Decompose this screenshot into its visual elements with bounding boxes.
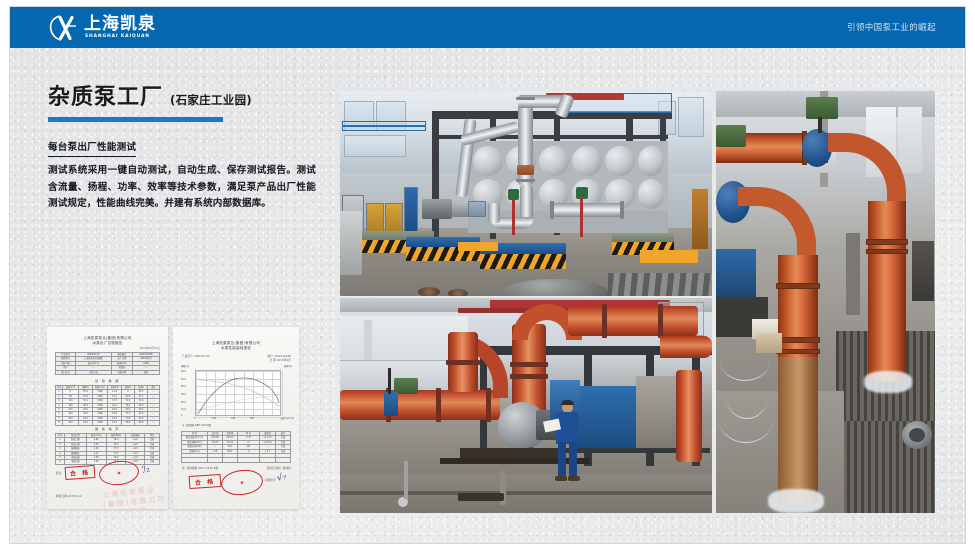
doc2-y-tick-6: 0 [181,414,182,417]
logo-text-chinese: 上海凯泉 [84,16,156,33]
doc2-y-tick-0: 60.0 [181,370,186,373]
doc2-title: 水泵性能曲线报告 [173,346,299,351]
doc2-y-tick-5: 10.0 [181,408,186,411]
doc2-y-tick-1: 50.0 [181,378,186,381]
doc2-date-line: 日 期 2018年6月 [270,359,291,363]
doc2-performance-chart [195,370,281,416]
doc2-x-tick-0: 0 [194,417,195,420]
title-underline-rule [48,117,223,122]
doc1-qualified-stamp: 合 格 [65,465,96,480]
doc2-x-label: 流量 Q(m³/h) [280,417,294,420]
doc1-meta-table: 产品型号NSP250-50报告编号QZ0316486 制造单位上海凯泉泵业(集团… [55,352,160,375]
doc2-note-line: 注: 试验依据 GB/T 3216 B级 [182,424,211,427]
page-title-block: 杂质泵工厂 (石家庄工业园) [48,85,318,122]
photo-large-pump-test-loop [340,298,712,513]
logo-text-english: SHANGHAI KAIQUAN [85,34,156,40]
doc2-y-tick-2: 40.0 [181,385,186,388]
doc2-y-left-label: 扬程(m) [181,365,189,368]
description-block: 每台泵出厂性能测试 测试系统采用一键自动测试，自动生成、保存测试报告。测试含流量… [48,135,316,213]
doc2-x-tick-6: 300 [250,417,254,420]
right-pipe-riser [868,201,906,381]
section-heading: 每台泵出厂性能测试 [48,140,136,157]
doc2-qualified-stamp: 合 格 [189,474,222,489]
doc2-tester-line: 试验员/审核: 检验科 [267,467,291,471]
photo-pump-test-bench-hall [340,91,712,296]
doc2-model-line: 产品型号: NSP250-50 [182,355,210,359]
splash-left [768,489,824,513]
photo-bottom-scene [340,298,712,513]
page-subtitle: (石家庄工业园) [170,91,252,109]
doc2-y-tick-4: 20.0 [181,401,186,404]
doc1-section-b-label: 振 动 噪 声 [47,427,168,432]
doc1-table-b-body: 1泵进口侧1.8278.4≤4.5合格 2泵出口侧2.0579.1≤4.5合格 … [55,437,160,464]
doc1-date-line: 2018年6月12日 [140,347,160,351]
document-thumbnail-test-report[interactable]: 上海凯泉泵业(集团)有限公司 水泵出厂试验报告 2018年6月12日 产品型号N… [47,327,168,509]
doc1-signature: ℐ₂ [141,464,151,475]
photo-right-scene [716,91,935,513]
kaiquan-logo-mark [48,14,79,42]
doc1-footer-note: 检验日期 2018.6.12 [56,495,82,499]
photo-top-scene [340,91,712,296]
section-body-text: 测试系统采用一键自动测试，自动生成、保存测试报告。测试含流量、扬程、功率、效率等… [48,163,316,213]
splash-right [864,371,912,393]
doc1-table-a-body: 1055.2148011.8022.5— 26054.6148014.262.8… [55,389,160,425]
doc2-signature-label: 审核签字 [265,479,276,483]
slide-canvas: 上海凯泉 SHANGHAI KAIQUAN 引领中国泵工业的崛起 杂质泵工厂 (… [10,7,965,543]
page-title: 杂质泵工厂 [48,85,163,111]
doc2-x-tick-2: 100 [212,417,216,420]
doc2-summary-body: 额定流量Q(m³/h)240.00243.15m³/h+1.31%合格 额定扬程… [181,435,291,462]
doc2-note-standard: 注: 试验依据 GB/T 3216 B级 [182,467,218,471]
doc2-y-right-label: 效率(%) [284,365,292,368]
doc2-signature: √₇ [276,472,287,484]
header-tagline: 引领中国泵工业的崛起 [847,21,936,33]
photo-orange-elbow-pipes [716,91,935,513]
doc1-title: 水泵出厂试验报告 [47,341,168,346]
doc2-x-tick-4: 200 [231,417,235,420]
doc1-verdict-label: 结论 [56,472,61,476]
document-thumbnail-performance-curve[interactable]: 上海凯泉泵业(集团)有限公司 水泵性能曲线报告 产品型号: NSP250-50 … [173,327,299,509]
green-actuator-left [716,125,746,147]
doc2-y-tick-3: 30.0 [181,393,186,396]
green-actuator-upper [806,97,838,119]
doc1-section-a-label: 试 验 数 据 [47,379,168,384]
brand-header-bar: 上海凯泉 SHANGHAI KAIQUAN 引领中国泵工业的崛起 [10,7,965,48]
company-logo[interactable]: 上海凯泉 SHANGHAI KAIQUAN [48,13,156,43]
